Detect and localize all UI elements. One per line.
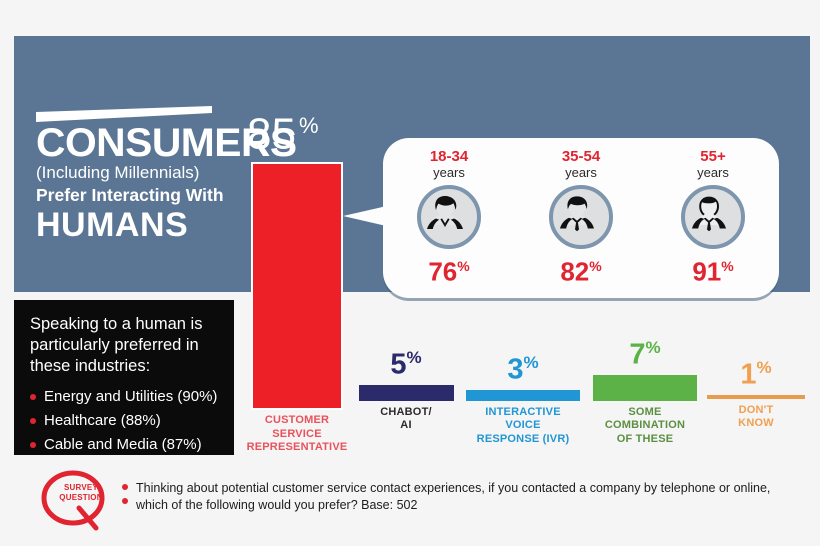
label-line-1: INTERACTIVE [463, 406, 583, 420]
age-percent-value: 91 [692, 257, 721, 287]
percent-symbol: % [589, 258, 601, 274]
age-group-55-plus: 55+ years 91% [653, 148, 773, 287]
combo-value-label: 7% [590, 332, 700, 371]
bar-label-ivr: INTERACTIVE VOICE RESPONSE (IVR) [463, 406, 583, 447]
csr-value: 85 [247, 110, 296, 159]
dontknow-value: 1 [740, 359, 756, 391]
age-unit-label: years [389, 165, 509, 180]
label-line-1: DON'T [704, 404, 808, 418]
label-line-3: RESPONSE (IVR) [463, 433, 583, 447]
headline-millennials: (Including Millennials) [36, 162, 236, 184]
badge-line-2: QUESTION [53, 493, 109, 503]
age-range-label: 55+ [653, 148, 773, 165]
csr-value-label: 85% [247, 104, 319, 157]
percent-symbol: % [721, 258, 733, 274]
ivr-value: 3 [507, 354, 523, 386]
label-line-2: SERVICE [243, 428, 351, 442]
age-group-row: 18-34 years 76% 35-54 years [383, 138, 779, 298]
label-line-3: OF THESE [590, 433, 700, 447]
bullet-dot-icon [30, 442, 36, 448]
age-percent-55-plus: 91% [653, 251, 773, 287]
survey-bullet-dots-icon [122, 484, 128, 512]
headline-consumers: CONSUMERS [36, 124, 240, 162]
swoosh-decoration-icon [36, 106, 212, 122]
secondary-bars-row: 5% CHABOT/ AI 3% INTERACTIVE VOICE RESPO… [356, 330, 806, 465]
bar-label-customer-service-representative: CUSTOMER SERVICE REPRESENTATIVE [243, 414, 351, 455]
bar-label-dont-know: DON'T KNOW [704, 404, 808, 431]
label-line-3: REPRESENTATIVE [243, 441, 351, 455]
dontknow-value-label: 1% [704, 352, 808, 391]
age-range-label: 18-34 [389, 148, 509, 165]
age-unit-label: years [521, 165, 641, 180]
age-range-label: 35-54 [521, 148, 641, 165]
headline-prefer: Prefer Interacting With [36, 184, 236, 206]
survey-question-badge-text: SURVEY QUESTION [53, 483, 109, 503]
industries-lead-text: Speaking to a human is particularly pref… [30, 314, 220, 377]
age-group-18-34: 18-34 years 76% [389, 148, 509, 287]
combo-value: 7 [629, 339, 645, 371]
percent-symbol: % [757, 358, 772, 377]
label-line-2: VOICE [463, 419, 583, 433]
chatbot-value-label: 5% [356, 342, 456, 381]
percent-symbol: % [457, 258, 469, 274]
person-young-icon [417, 185, 481, 249]
chatbot-value: 5 [390, 349, 406, 381]
industries-list: Energy and Utilities (90%) Healthcare (8… [30, 385, 220, 457]
industry-label: Cable and Media (87%) [44, 436, 202, 453]
bullet-dot-icon [30, 418, 36, 424]
person-suit-icon [549, 185, 613, 249]
age-unit-label: years [653, 165, 773, 180]
bar-chatbot-ai [359, 385, 454, 401]
bar-label-some-combination: SOME COMBINATION OF THESE [590, 406, 700, 447]
industries-box: Speaking to a human is particularly pref… [14, 300, 234, 455]
age-percent-35-54: 82% [521, 251, 641, 287]
label-line-1: CUSTOMER [243, 414, 351, 428]
survey-question-footer: SURVEY QUESTION Thinking about potential… [36, 470, 796, 532]
bullet-dot-icon [30, 394, 36, 400]
bar-group-some-combination: 7% SOME COMBINATION OF THESE [590, 332, 700, 446]
percent-symbol: % [407, 348, 422, 367]
percent-symbol: % [299, 113, 319, 138]
percent-symbol: % [646, 338, 661, 357]
label-line-1: SOME [590, 406, 700, 420]
bar-group-ivr: 3% INTERACTIVE VOICE RESPONSE (IVR) [463, 347, 583, 446]
infographic-canvas: CONSUMERS (Including Millennials) Prefer… [0, 0, 820, 546]
age-percent-18-34: 76% [389, 251, 509, 287]
list-item: Healthcare (88%) [30, 409, 220, 433]
label-line-2: KNOW [704, 417, 808, 431]
headline-block: CONSUMERS (Including Millennials) Prefer… [36, 106, 236, 244]
badge-line-1: SURVEY [53, 483, 109, 493]
ivr-value-label: 3% [463, 347, 583, 386]
person-senior-icon [681, 185, 745, 249]
bar-group-dont-know: 1% DON'T KNOW [704, 352, 808, 431]
survey-question-text: Thinking about potential customer servic… [136, 480, 796, 514]
label-line-1: CHABOT/ [356, 406, 456, 420]
list-item: Cable and Media (87%) [30, 433, 220, 457]
industry-label: Energy and Utilities (90%) [44, 388, 217, 405]
bar-interactive-voice-response [466, 390, 580, 401]
list-item: Energy and Utilities (90%) [30, 385, 220, 409]
bar-label-chatbot-ai: CHABOT/ AI [356, 406, 456, 433]
bar-group-chatbot-ai: 5% CHABOT/ AI [356, 342, 456, 433]
headline-humans: HUMANS [36, 206, 236, 244]
age-percent-value: 76 [428, 257, 457, 287]
age-group-35-54: 35-54 years 82% [521, 148, 641, 287]
label-line-2: AI [356, 419, 456, 433]
bar-some-combination [593, 375, 697, 401]
age-percent-value: 82 [560, 257, 589, 287]
industry-label: Healthcare (88%) [44, 412, 161, 429]
label-line-2: COMBINATION [590, 419, 700, 433]
bar-dont-know [707, 395, 805, 399]
percent-symbol: % [524, 353, 539, 372]
bar-customer-service-representative [251, 162, 343, 410]
